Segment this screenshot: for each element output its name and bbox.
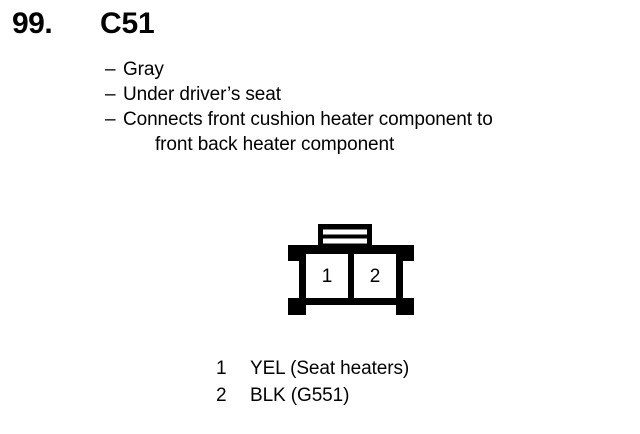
description-list: –Gray –Under driver’s seat –Connects fro… <box>105 57 625 157</box>
description-text: Gray <box>123 59 164 80</box>
connector-detail-page: 99. C51 –Gray –Under driver’s seat –Conn… <box>0 0 640 434</box>
en-dash-bullet-icon: – <box>105 82 123 107</box>
connector-body <box>288 245 414 315</box>
description-line: –Gray <box>105 57 625 82</box>
pin-legend: 1 YEL (Seat heaters) 2 BLK (G551) <box>216 355 556 409</box>
pin-description: BLK (G551) <box>250 382 349 409</box>
pin-legend-row: 2 BLK (G551) <box>216 382 556 409</box>
item-number: 99. <box>12 6 52 42</box>
description-line-continuation: front back heater component <box>105 132 625 157</box>
connector-id-title: C51 <box>100 6 154 42</box>
connector-diagram: 1 2 <box>285 220 417 320</box>
pin-number: 1 <box>216 355 240 382</box>
description-text: Connects front cushion heater component … <box>123 109 493 130</box>
description-line: –Under driver’s seat <box>105 82 625 107</box>
description-line: –Connects front cushion heater component… <box>105 107 625 132</box>
description-text: front back heater component <box>155 134 394 155</box>
pin-number: 2 <box>216 382 240 409</box>
page-header: 99. C51 <box>0 6 640 46</box>
en-dash-bullet-icon: – <box>105 57 123 82</box>
pin-legend-row: 1 YEL (Seat heaters) <box>216 355 556 382</box>
description-text: Under driver’s seat <box>123 84 281 105</box>
cavity-label-1: 1 <box>322 266 333 287</box>
cavity-label-2: 2 <box>370 266 381 287</box>
en-dash-bullet-icon: – <box>105 107 123 132</box>
connector-outline-icon: 1 2 <box>285 220 417 320</box>
pin-description: YEL (Seat heaters) <box>250 355 409 382</box>
